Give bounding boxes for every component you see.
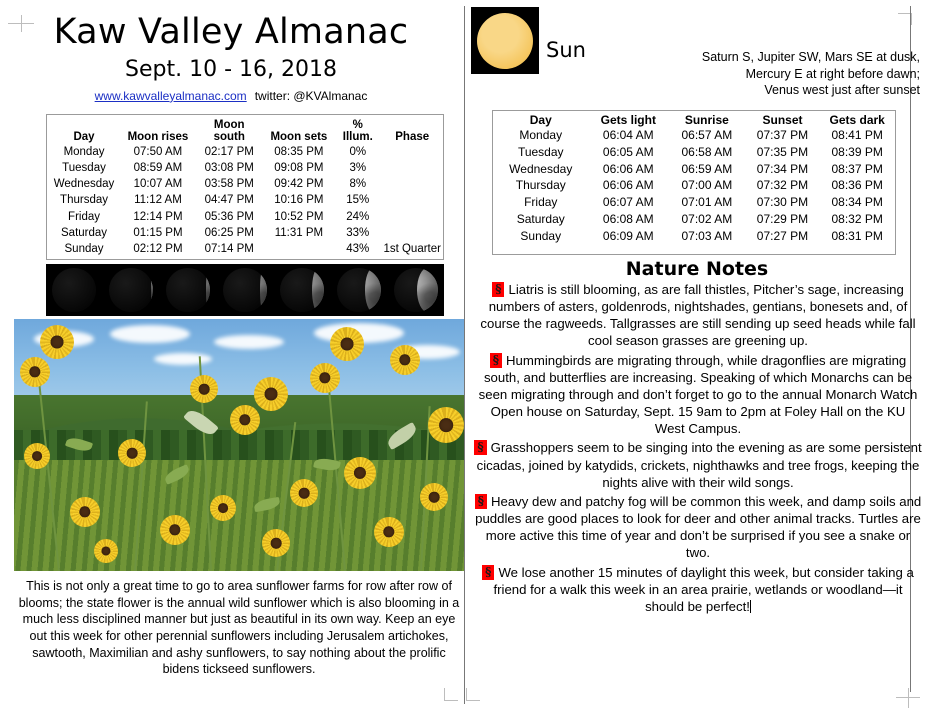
cell-gets-light: 06:06 AM xyxy=(589,161,669,178)
cell-sets: 09:42 PM xyxy=(264,177,334,193)
cell-sunrise: 06:59 AM xyxy=(668,161,746,178)
sun-col-sunrise: Sunrise xyxy=(668,111,746,128)
cell-sets: 10:52 PM xyxy=(264,209,334,225)
sun-col-gets-light: Gets light xyxy=(589,111,669,128)
website-link[interactable]: www.kawvalleyalmanac.com xyxy=(95,89,247,103)
cell-gets-dark: 08:32 PM xyxy=(819,212,895,229)
cloud xyxy=(214,335,284,349)
cell-illum: 24% xyxy=(334,209,381,225)
cloud xyxy=(110,325,190,343)
sunflower xyxy=(20,357,50,387)
cell-day: Friday xyxy=(493,195,589,212)
cell-sunset: 07:37 PM xyxy=(746,128,820,145)
cell-sunrise: 06:58 AM xyxy=(668,144,746,161)
table-row: Saturday01:15 PM06:25 PM11:31 PM33% xyxy=(47,225,443,241)
moon-col-illum: % Illum. xyxy=(334,115,381,144)
cell-illum: 8% xyxy=(334,177,381,193)
cell-gets-dark: 08:31 PM xyxy=(819,228,895,245)
section-bullet-icon: § xyxy=(474,440,486,455)
text-cursor xyxy=(750,600,751,613)
cell-phase xyxy=(381,209,443,225)
sun-disk-icon xyxy=(477,13,533,69)
sunflower xyxy=(428,407,464,443)
sun-label: Sun xyxy=(546,38,586,62)
sunflower xyxy=(344,457,376,489)
sun-table-body: Monday06:04 AM06:57 AM07:37 PM08:41 PM T… xyxy=(493,128,895,246)
cell-sunrise: 06:57 AM xyxy=(668,128,746,145)
list-item: §Grasshoppers seem to be singing into th… xyxy=(474,439,922,490)
masthead: Kaw Valley Almanac Sept. 10 - 16, 2018 w… xyxy=(0,0,462,103)
sunflower xyxy=(94,539,118,563)
section-bullet-icon: § xyxy=(490,353,502,368)
cell-phase xyxy=(381,144,443,160)
cloud xyxy=(154,353,212,365)
list-item: §Hummingbirds are migrating through, whi… xyxy=(474,352,922,438)
moon-phase-icon xyxy=(48,266,100,314)
section-bullet-icon: § xyxy=(482,565,494,580)
cell-phase xyxy=(381,193,443,209)
sunflower xyxy=(390,345,420,375)
sunflower xyxy=(230,405,260,435)
cell-sunset: 07:29 PM xyxy=(746,212,820,229)
cell-sunrise: 07:02 AM xyxy=(668,212,746,229)
cell-day: Thursday xyxy=(47,193,121,209)
cell-day: Tuesday xyxy=(493,144,589,161)
moon-table-header-row: Day Moon rises Moon south Moon sets % Il… xyxy=(47,115,443,144)
cell-south: 02:17 PM xyxy=(195,144,264,160)
cell-gets-light: 06:08 AM xyxy=(589,212,669,229)
cell-gets-light: 06:09 AM xyxy=(589,228,669,245)
sun-col-gets-dark: Gets dark xyxy=(819,111,895,128)
cell-day: Thursday xyxy=(493,178,589,195)
photo-caption: This is not only a great time to go to a… xyxy=(16,578,462,678)
sun-icon xyxy=(471,7,539,74)
cell-gets-dark: 08:41 PM xyxy=(819,128,895,145)
sunflower xyxy=(40,325,74,359)
sunflower xyxy=(210,495,236,521)
cell-illum: 15% xyxy=(334,193,381,209)
cell-phase xyxy=(381,160,443,176)
sun-table-header-row: Day Gets light Sunrise Sunset Gets dark xyxy=(493,111,895,128)
cell-sets: 11:31 PM xyxy=(264,225,334,241)
sunflower xyxy=(420,483,448,511)
moon-phase-icon xyxy=(276,266,328,314)
sunflower xyxy=(290,479,318,507)
cell-rises: 01:15 PM xyxy=(121,225,195,241)
cell-gets-dark: 08:39 PM xyxy=(819,144,895,161)
section-bullet-icon: § xyxy=(475,494,487,509)
note-text: Liatris is still blooming, as are fall t… xyxy=(480,282,915,348)
cell-rises: 12:14 PM xyxy=(121,209,195,225)
sunflower xyxy=(330,327,364,361)
sun-col-day: Day xyxy=(493,111,589,128)
list-item: §Liatris is still blooming, as are fall … xyxy=(474,281,922,350)
almanac-page: Kaw Valley Almanac Sept. 10 - 16, 2018 w… xyxy=(0,0,926,713)
cell-phase xyxy=(381,225,443,241)
cell-day: Friday xyxy=(47,209,121,225)
contact-line: www.kawvalleyalmanac.comtwitter: @KVAlma… xyxy=(0,89,462,103)
nature-notes-list: §Liatris is still blooming, as are fall … xyxy=(474,281,922,617)
cell-gets-light: 06:07 AM xyxy=(589,195,669,212)
note-text: We lose another 15 minutes of daylight t… xyxy=(493,565,913,614)
cell-day: Monday xyxy=(493,128,589,145)
cell-illum: 33% xyxy=(334,225,381,241)
cell-day: Wednesday xyxy=(493,161,589,178)
table-row: Thursday06:06 AM07:00 AM07:32 PM08:36 PM xyxy=(493,178,895,195)
date-range: Sept. 10 - 16, 2018 xyxy=(0,57,462,82)
cell-sets: 10:16 PM xyxy=(264,193,334,209)
cell-illum: 43% xyxy=(334,241,381,257)
list-item: §Heavy dew and patchy fog will be common… xyxy=(474,493,922,562)
cell-sunrise: 07:01 AM xyxy=(668,195,746,212)
planets-line-1: Saturn S, Jupiter SW, Mars SE at dusk, xyxy=(658,49,920,66)
moon-phase-icon xyxy=(333,266,385,314)
list-item: §We lose another 15 minutes of daylight … xyxy=(474,564,922,615)
moon-col-phase: Phase xyxy=(381,115,443,144)
cell-gets-light: 06:05 AM xyxy=(589,144,669,161)
sun-table: Day Gets light Sunrise Sunset Gets dark … xyxy=(492,110,896,255)
twitter-handle[interactable]: twitter: @KVAlmanac xyxy=(255,89,368,103)
cell-gets-light: 06:04 AM xyxy=(589,128,669,145)
cell-south: 07:14 PM xyxy=(195,241,264,257)
note-text: Heavy dew and patchy fog will be common … xyxy=(475,494,921,560)
cell-south: 03:58 PM xyxy=(195,177,264,193)
page-title: Kaw Valley Almanac xyxy=(0,14,462,51)
cell-south: 04:47 PM xyxy=(195,193,264,209)
planets-line-2: Mercury E at right before dawn; xyxy=(658,66,920,83)
planet-visibility-note: Saturn S, Jupiter SW, Mars SE at dusk, M… xyxy=(658,49,920,99)
sun-col-sunset: Sunset xyxy=(746,111,820,128)
cell-day: Sunday xyxy=(493,228,589,245)
table-row: Tuesday08:59 AM03:08 PM09:08 PM3% xyxy=(47,160,443,176)
sunflower xyxy=(262,529,290,557)
table-row: Thursday11:12 AM04:47 PM10:16 PM15% xyxy=(47,193,443,209)
cell-sets: 08:35 PM xyxy=(264,144,334,160)
cell-sets xyxy=(264,241,334,257)
sunflower xyxy=(374,517,404,547)
sunflower xyxy=(70,497,100,527)
cell-rises: 02:12 PM xyxy=(121,241,195,257)
sunflower xyxy=(118,439,146,467)
table-row: Sunday02:12 PM07:14 PM43%1st Quarter xyxy=(47,241,443,257)
moon-col-sets: Moon sets xyxy=(264,115,334,144)
moon-phase-icon xyxy=(219,266,271,314)
moon-table-grid: Day Moon rises Moon south Moon sets % Il… xyxy=(47,115,443,258)
cell-rises: 07:50 AM xyxy=(121,144,195,160)
sunflower-field-photograph xyxy=(14,319,464,571)
cell-gets-dark: 08:36 PM xyxy=(819,178,895,195)
cell-day: Sunday xyxy=(47,241,121,257)
cell-south: 06:25 PM xyxy=(195,225,264,241)
cell-south: 03:08 PM xyxy=(195,160,264,176)
center-divider-rule xyxy=(464,6,465,704)
cell-illum: 3% xyxy=(334,160,381,176)
nature-notes-heading: Nature Notes xyxy=(468,258,926,280)
cell-day: Wednesday xyxy=(47,177,121,193)
table-row: Saturday06:08 AM07:02 AM07:29 PM08:32 PM xyxy=(493,212,895,229)
cell-day: Saturday xyxy=(493,212,589,229)
sun-table-grid: Day Gets light Sunrise Sunset Gets dark … xyxy=(493,111,895,245)
cell-sunset: 07:27 PM xyxy=(746,228,820,245)
cell-gets-light: 06:06 AM xyxy=(589,178,669,195)
cell-sunset: 07:30 PM xyxy=(746,195,820,212)
cell-sunset: 07:32 PM xyxy=(746,178,820,195)
section-bullet-icon: § xyxy=(492,282,504,297)
cell-day: Monday xyxy=(47,144,121,160)
table-row: Wednesday10:07 AM03:58 PM09:42 PM8% xyxy=(47,177,443,193)
right-column: Sun Saturn S, Jupiter SW, Mars SE at dus… xyxy=(468,0,926,713)
cell-rises: 08:59 AM xyxy=(121,160,195,176)
cell-gets-dark: 08:34 PM xyxy=(819,195,895,212)
table-row: Monday07:50 AM02:17 PM08:35 PM0% xyxy=(47,144,443,160)
table-row: Wednesday06:06 AM06:59 AM07:34 PM08:37 P… xyxy=(493,161,895,178)
sunflower xyxy=(190,375,218,403)
cell-gets-dark: 08:37 PM xyxy=(819,161,895,178)
left-column: Kaw Valley Almanac Sept. 10 - 16, 2018 w… xyxy=(0,0,462,713)
sunflower xyxy=(310,363,340,393)
cell-sunset: 07:35 PM xyxy=(746,144,820,161)
sunflower xyxy=(160,515,190,545)
table-row: Monday06:04 AM06:57 AM07:37 PM08:41 PM xyxy=(493,128,895,145)
note-text: Hummingbirds are migrating through, whil… xyxy=(479,353,918,437)
moon-phase-icon xyxy=(390,266,442,314)
sunflower xyxy=(24,443,50,469)
moon-phase-icon xyxy=(162,266,214,314)
cell-day: Saturday xyxy=(47,225,121,241)
moon-col-south: Moon south xyxy=(195,115,264,144)
moon-phase-strip xyxy=(46,264,444,316)
cell-sunrise: 07:03 AM xyxy=(668,228,746,245)
cell-day: Tuesday xyxy=(47,160,121,176)
note-text: Grasshoppers seem to be singing into the… xyxy=(477,440,922,489)
moon-col-rises: Moon rises xyxy=(121,115,195,144)
cell-sunrise: 07:00 AM xyxy=(668,178,746,195)
table-row: Sunday06:09 AM07:03 AM07:27 PM08:31 PM xyxy=(493,228,895,245)
moon-table-body: Monday07:50 AM02:17 PM08:35 PM0% Tuesday… xyxy=(47,144,443,258)
moon-phase-icon xyxy=(105,266,157,314)
moon-table: Day Moon rises Moon south Moon sets % Il… xyxy=(46,114,444,260)
table-row: Tuesday06:05 AM06:58 AM07:35 PM08:39 PM xyxy=(493,144,895,161)
cell-sunset: 07:34 PM xyxy=(746,161,820,178)
table-row: Friday12:14 PM05:36 PM10:52 PM24% xyxy=(47,209,443,225)
table-row: Friday06:07 AM07:01 AM07:30 PM08:34 PM xyxy=(493,195,895,212)
cell-sets: 09:08 PM xyxy=(264,160,334,176)
moon-col-south-label: Moon south xyxy=(206,120,252,143)
cell-rises: 11:12 AM xyxy=(121,193,195,209)
cell-phase: 1st Quarter xyxy=(381,241,443,257)
cell-phase xyxy=(381,177,443,193)
moon-col-day: Day xyxy=(47,115,121,144)
cell-rises: 10:07 AM xyxy=(121,177,195,193)
cell-illum: 0% xyxy=(334,144,381,160)
planets-line-3: Venus west just after sunset xyxy=(658,82,920,99)
cell-south: 05:36 PM xyxy=(195,209,264,225)
